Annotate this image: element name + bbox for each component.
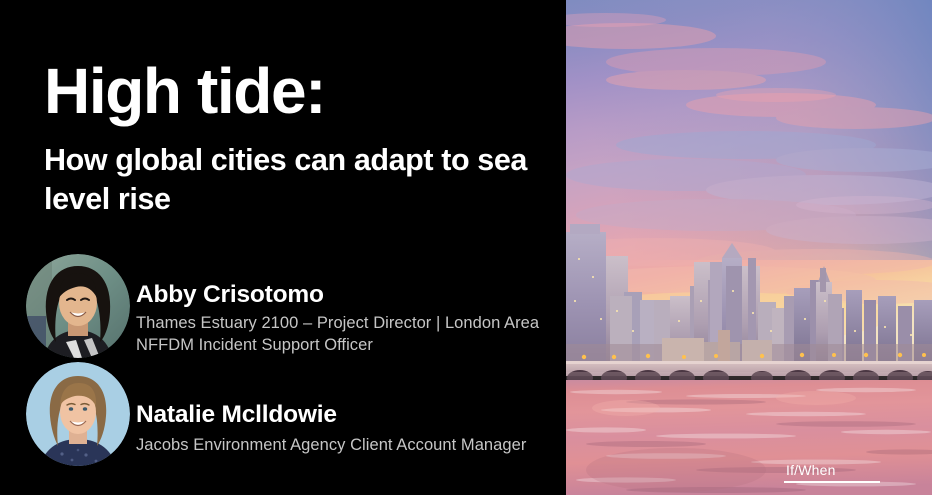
left-content-panel: High tide: How global cities can adapt t… [0,0,566,495]
avatar [26,362,130,466]
speaker-role: Thames Estuary 2100 – Project Director |… [136,313,556,357]
speaker-entry: Abby Crisotomo Thames Estuary 2100 – Pro… [26,254,556,358]
speaker-text: Natalie Mclldowie Jacobs Environment Age… [136,362,556,457]
speaker-role: Jacobs Environment Agency Client Account… [136,435,556,457]
brand-logo: If/When [784,435,924,483]
logo-text: If/When [784,463,880,481]
speaker-text: Abby Crisotomo Thames Estuary 2100 – Pro… [136,254,556,357]
skyline-photo: If/When [566,0,932,495]
speaker-name: Natalie Mclldowie [136,400,556,429]
logo-underline [784,481,880,483]
microphone-icon [886,435,924,483]
presentation-slide: High tide: How global cities can adapt t… [0,0,932,495]
logo-wordmark: If/When [784,463,880,483]
speaker-entry: Natalie Mclldowie Jacobs Environment Age… [26,362,556,466]
page-subtitle: How global cities can adapt to sea level… [44,141,544,219]
page-title: High tide: [44,59,325,123]
speaker-name: Abby Crisotomo [136,280,556,309]
avatar [26,254,130,358]
